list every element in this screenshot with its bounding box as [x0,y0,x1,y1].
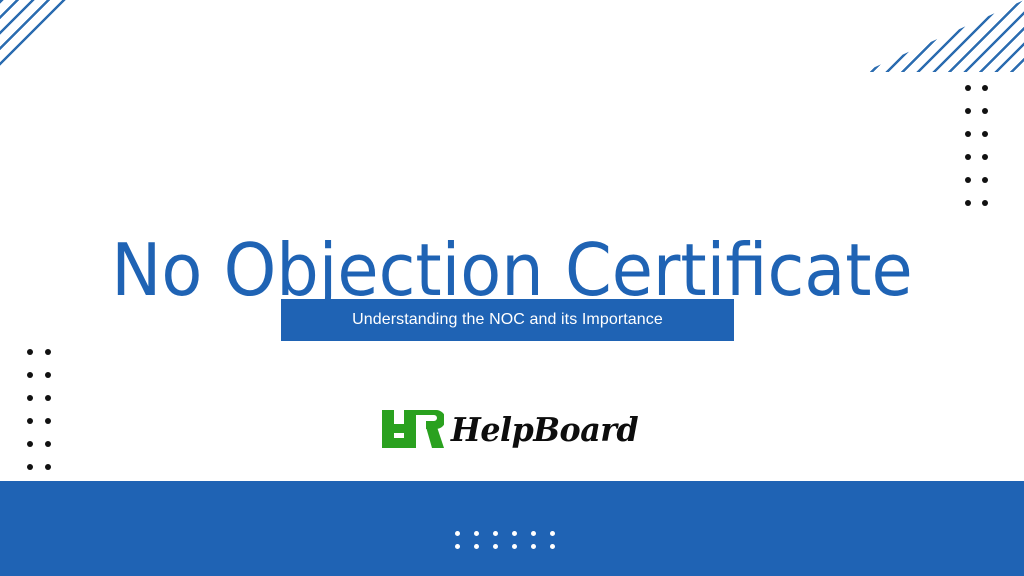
dot [455,544,460,549]
dot [512,544,517,549]
dot [474,544,479,549]
logo: HelpBoard [0,410,1024,448]
dot [982,108,988,114]
dot [550,531,555,536]
dot [27,464,33,470]
dot [27,349,33,355]
dot [531,544,536,549]
dot [982,85,988,91]
dot [531,531,536,536]
dot [27,372,33,378]
subtitle-text: Understanding the NOC and its Importance [352,311,663,329]
dot [965,154,971,160]
dot [550,544,555,549]
hr-monogram-icon [382,410,444,448]
dot [493,531,498,536]
dot-grid-footer [455,531,569,557]
dot [965,177,971,183]
page-title: No Objection Certificate [36,234,988,306]
dot [982,131,988,137]
dot [27,395,33,401]
dot [965,200,971,206]
logo-wordmark: HelpBoard [451,413,638,446]
footer-bar [0,481,1024,576]
dot [45,464,51,470]
dot [455,531,460,536]
dot [982,177,988,183]
presentation-slide: No Objection Certificate Understanding t… [0,0,1024,576]
diagonal-stripes-top-right-icon [864,0,1024,72]
dot [493,544,498,549]
dot [512,531,517,536]
dot [982,200,988,206]
dot [45,349,51,355]
dot [45,372,51,378]
dot-grid-top-right [965,85,999,223]
dot [965,108,971,114]
dot [965,131,971,137]
dot [45,395,51,401]
diagonal-stripes-top-left-icon [0,0,66,69]
dot [965,85,971,91]
dot [474,531,479,536]
subtitle-banner: Understanding the NOC and its Importance [281,299,734,341]
dot [982,154,988,160]
